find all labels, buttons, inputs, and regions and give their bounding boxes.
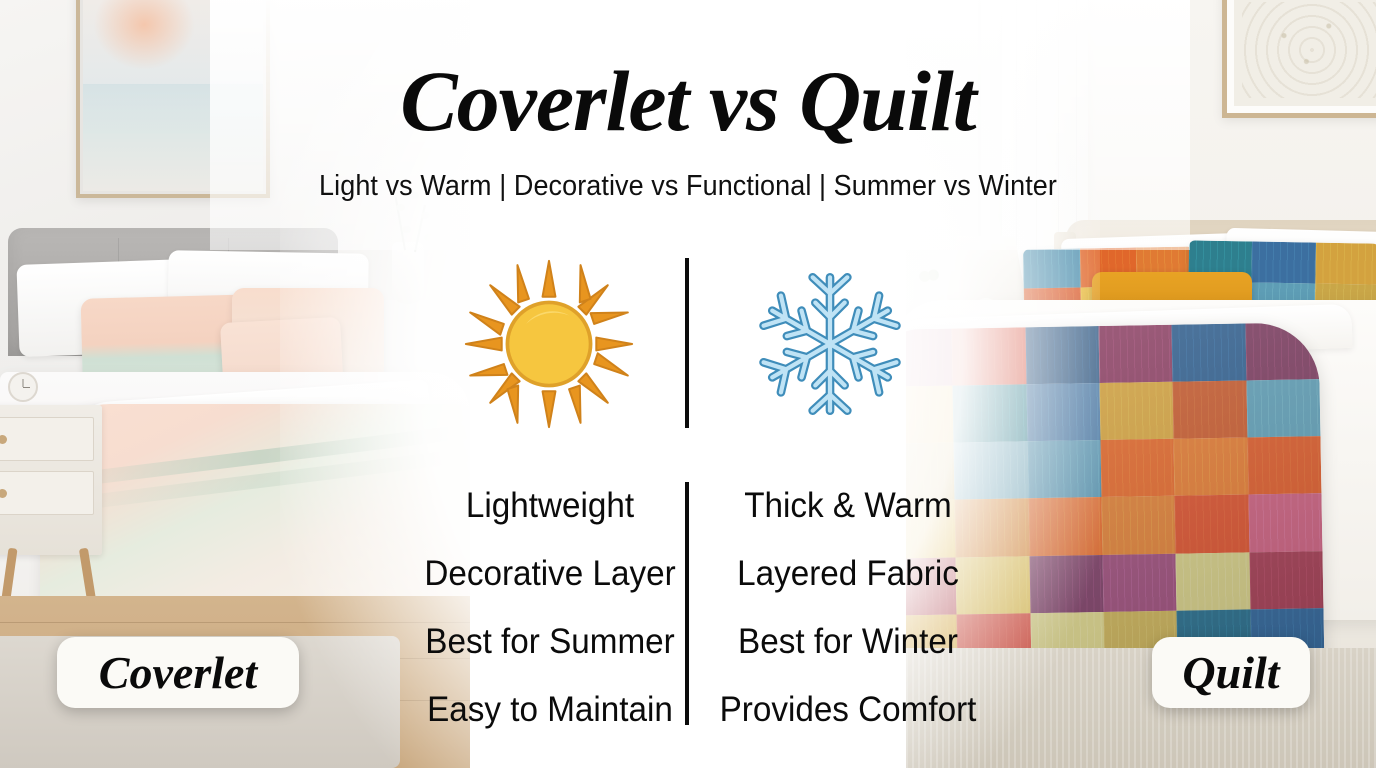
coverlet-feature-4: Easy to Maintain: [408, 686, 693, 734]
infographic-content: Coverlet vs Quilt Light vs Warm | Decora…: [0, 0, 1376, 768]
divider-top: [685, 258, 689, 428]
coverlet-badge: Coverlet: [57, 637, 299, 708]
coverlet-feature-2: Decorative Layer: [408, 550, 693, 598]
feature-row: Decorative Layer Layered Fabric: [0, 550, 1376, 612]
quilt-badge: Quilt: [1152, 637, 1310, 708]
snowflake-icon: [750, 264, 910, 424]
quilt-feature-3: Best for Winter: [706, 618, 991, 666]
sun-icon: [463, 258, 635, 430]
infographic-canvas: Bedroom with a pastel blush and mint qui…: [0, 0, 1376, 768]
page-title: Coverlet vs Quilt: [0, 58, 1376, 146]
coverlet-feature-1: Lightweight: [408, 482, 693, 530]
page-subtitle: Light vs Warm | Decorative vs Functional…: [48, 170, 1328, 203]
coverlet-feature-3: Best for Summer: [408, 618, 693, 666]
quilt-feature-2: Layered Fabric: [706, 550, 991, 598]
feature-row: Lightweight Thick & Warm: [0, 482, 1376, 544]
quilt-feature-1: Thick & Warm: [706, 482, 991, 530]
quilt-feature-4: Provides Comfort: [706, 686, 991, 734]
